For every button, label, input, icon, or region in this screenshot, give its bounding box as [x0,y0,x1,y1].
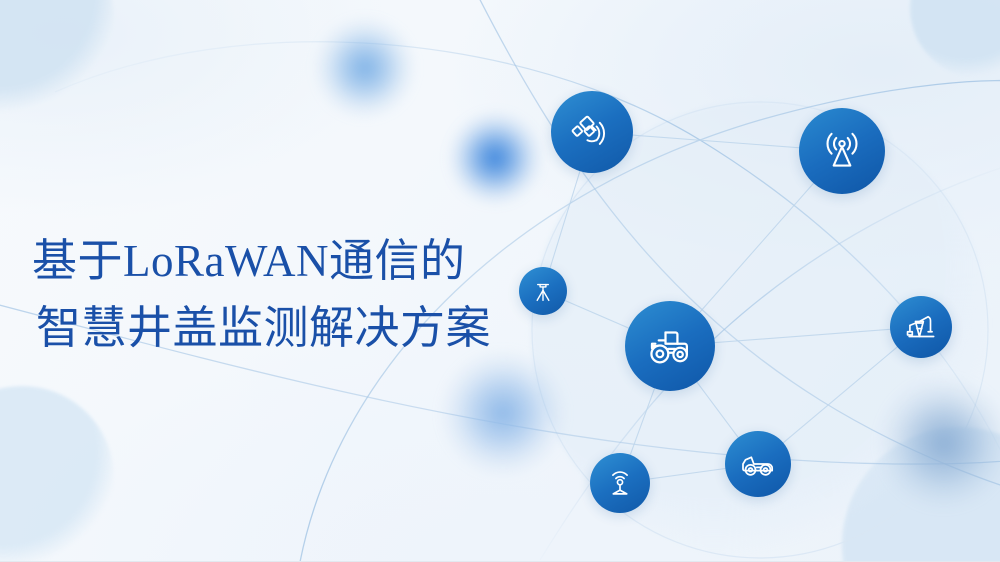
glow-dot-1 [315,18,416,119]
blob-top-left [0,0,114,114]
page-title-line-1: 基于LoRaWAN通信的 [32,228,572,295]
glow-dot-4 [879,378,1000,508]
glow-dot-2 [449,112,540,203]
blob-top-right [910,0,1000,78]
page-title-line-2: 智慧井盖监测解决方案 [32,295,572,362]
tractor-icon[interactable] [625,301,715,391]
glow-dot-3 [441,351,566,476]
radio-tower-icon[interactable] [799,108,885,194]
satellite-icon[interactable] [551,91,633,173]
blob-bottom-right [842,427,1000,562]
title-block: 基于LoRaWAN通信的 智慧井盖监测解决方案 [32,228,572,361]
rover-icon[interactable] [725,431,791,497]
blob-bottom-left [0,386,114,562]
slide-canvas: 基于LoRaWAN通信的 智慧井盖监测解决方案 [0,0,1000,562]
oil-pump-icon[interactable] [890,296,952,358]
gps-beacon-icon[interactable] [590,453,650,513]
